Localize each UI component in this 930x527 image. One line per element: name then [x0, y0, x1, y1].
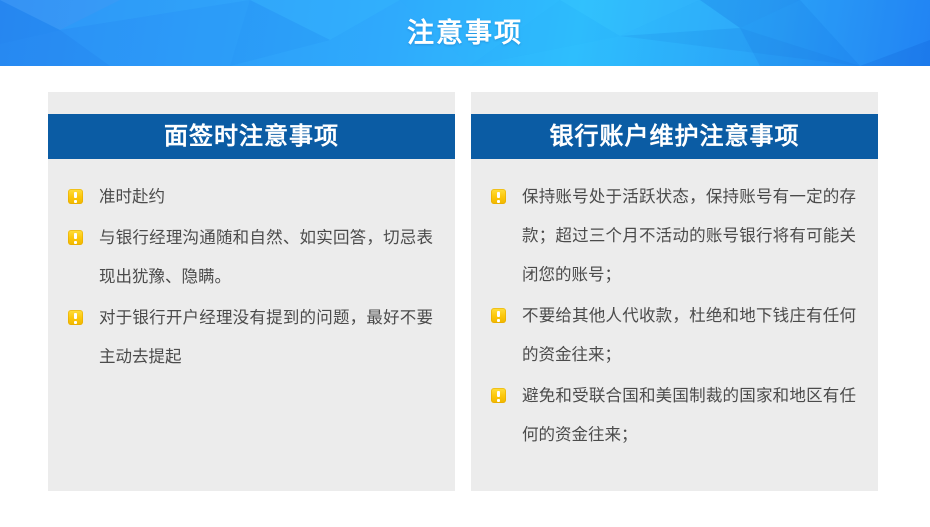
card-face-to-face-signing: 面签时注意事项 准时赴约 与银行经理沟通随和自然、如实回答，切忌表现出犹豫、隐瞒…	[48, 92, 455, 491]
list-item: 保持账号处于活跃状态，保持账号有一定的存款；超过三个月不活动的账号银行将有可能关…	[485, 178, 856, 295]
list-item: 对于银行开户经理没有提到的问题，最好不要主动去提起	[62, 299, 433, 377]
exclamation-icon	[68, 189, 83, 204]
list-item-text: 保持账号处于活跃状态，保持账号有一定的存款；超过三个月不活动的账号银行将有可能关…	[522, 178, 856, 295]
card-body-right: 保持账号处于活跃状态，保持账号有一定的存款；超过三个月不活动的账号银行将有可能关…	[471, 172, 878, 491]
card-bank-account-maintenance: 银行账户维护注意事项 保持账号处于活跃状态，保持账号有一定的存款；超过三个月不活…	[471, 92, 878, 491]
list-item: 准时赴约	[62, 178, 433, 217]
exclamation-icon	[491, 189, 506, 204]
list-item-text: 与银行经理沟通随和自然、如实回答，切忌表现出犹豫、隐瞒。	[99, 219, 433, 297]
list-item: 避免和受联合国和美国制裁的国家和地区有任何的资金往来；	[485, 377, 856, 455]
list-item: 与银行经理沟通随和自然、如实回答，切忌表现出犹豫、隐瞒。	[62, 219, 433, 297]
list-item-text: 准时赴约	[99, 178, 433, 217]
page-banner: 注意事项	[0, 0, 930, 66]
exclamation-icon	[491, 308, 506, 323]
card-body-left: 准时赴约 与银行经理沟通随和自然、如实回答，切忌表现出犹豫、隐瞒。 对于银行开户…	[48, 172, 455, 491]
cards-container: 面签时注意事项 准时赴约 与银行经理沟通随和自然、如实回答，切忌表现出犹豫、隐瞒…	[0, 66, 930, 527]
exclamation-icon	[491, 388, 506, 403]
list-item-text: 对于银行开户经理没有提到的问题，最好不要主动去提起	[99, 299, 433, 377]
list-item: 不要给其他人代收款，杜绝和地下钱庄有任何的资金往来；	[485, 297, 856, 375]
banner-title: 注意事项	[0, 0, 930, 66]
exclamation-icon	[68, 310, 83, 325]
card-title-left: 面签时注意事项	[48, 114, 455, 159]
list-item-text: 避免和受联合国和美国制裁的国家和地区有任何的资金往来；	[522, 377, 856, 455]
card-title-right: 银行账户维护注意事项	[471, 114, 878, 159]
exclamation-icon	[68, 230, 83, 245]
list-item-text: 不要给其他人代收款，杜绝和地下钱庄有任何的资金往来；	[522, 297, 856, 375]
